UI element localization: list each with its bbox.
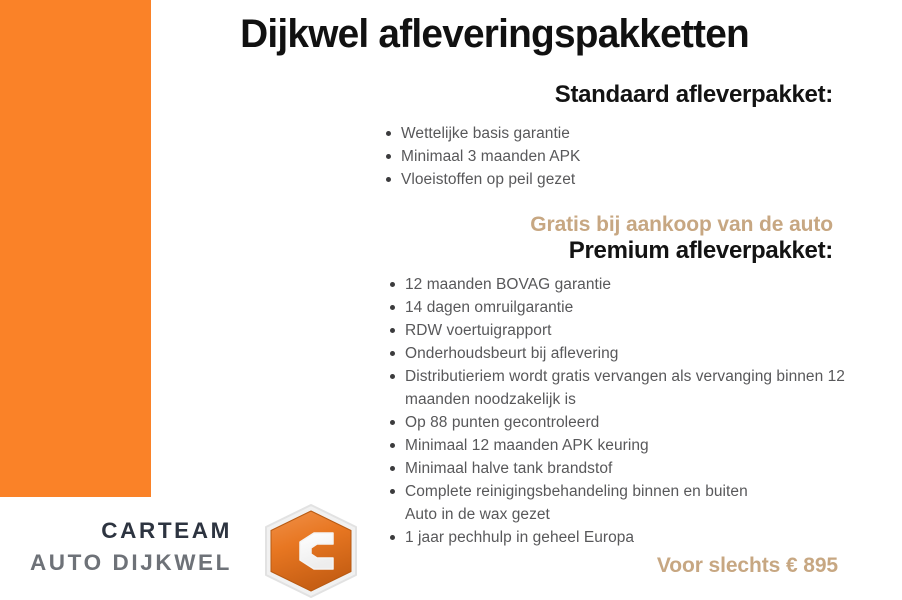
standaard-package-list: Wettelijke basis garantie Minimaal 3 maa… (379, 122, 849, 191)
list-item: 1 jaar pechhulp in geheel Europa (383, 526, 863, 549)
carteam-hexagon-c-logo-icon (256, 502, 366, 600)
list-item: Vloeistoffen op peil gezet (379, 168, 849, 191)
list-item: 14 dagen omruilgarantie (383, 296, 863, 319)
standaard-price-label: Gratis bij aankoop van de auto (155, 213, 902, 237)
list-item: Op 88 punten gecontroleerd (383, 411, 863, 434)
list-item: Complete reinigingsbehandeling binnen en… (383, 480, 863, 503)
brand-name-carteam: CARTEAM (0, 515, 232, 547)
brand-footer: CARTEAM AUTO DIJKWEL (0, 497, 370, 600)
list-item: 12 maanden BOVAG garantie (383, 273, 863, 296)
brand-wordmark: CARTEAM AUTO DIJKWEL (0, 515, 232, 579)
list-item-continuation: Auto in de wax gezet (383, 503, 863, 526)
premium-package-heading: Premium afleverpakket: (155, 237, 902, 265)
premium-package-list: 12 maanden BOVAG garantie 14 dagen omrui… (383, 273, 863, 549)
list-item: Distributieriem wordt gratis vervangen a… (383, 365, 863, 411)
list-item: Minimaal 12 maanden APK keuring (383, 434, 863, 457)
list-item: Minimaal 3 maanden APK (379, 145, 849, 168)
brand-name-auto-dijkwel: AUTO DIJKWEL (0, 547, 232, 579)
list-item: Wettelijke basis garantie (379, 122, 849, 145)
list-item: RDW voertuigrapport (383, 319, 863, 342)
orange-accent-block (0, 0, 151, 497)
list-item: Onderhoudsbeurt bij aflevering (383, 342, 863, 365)
standaard-package-heading: Standaard afleverpakket: (155, 81, 902, 109)
list-item: Minimaal halve tank brandstof (383, 457, 863, 480)
page-title: Dijkwel afleveringspakketten (166, 0, 891, 56)
